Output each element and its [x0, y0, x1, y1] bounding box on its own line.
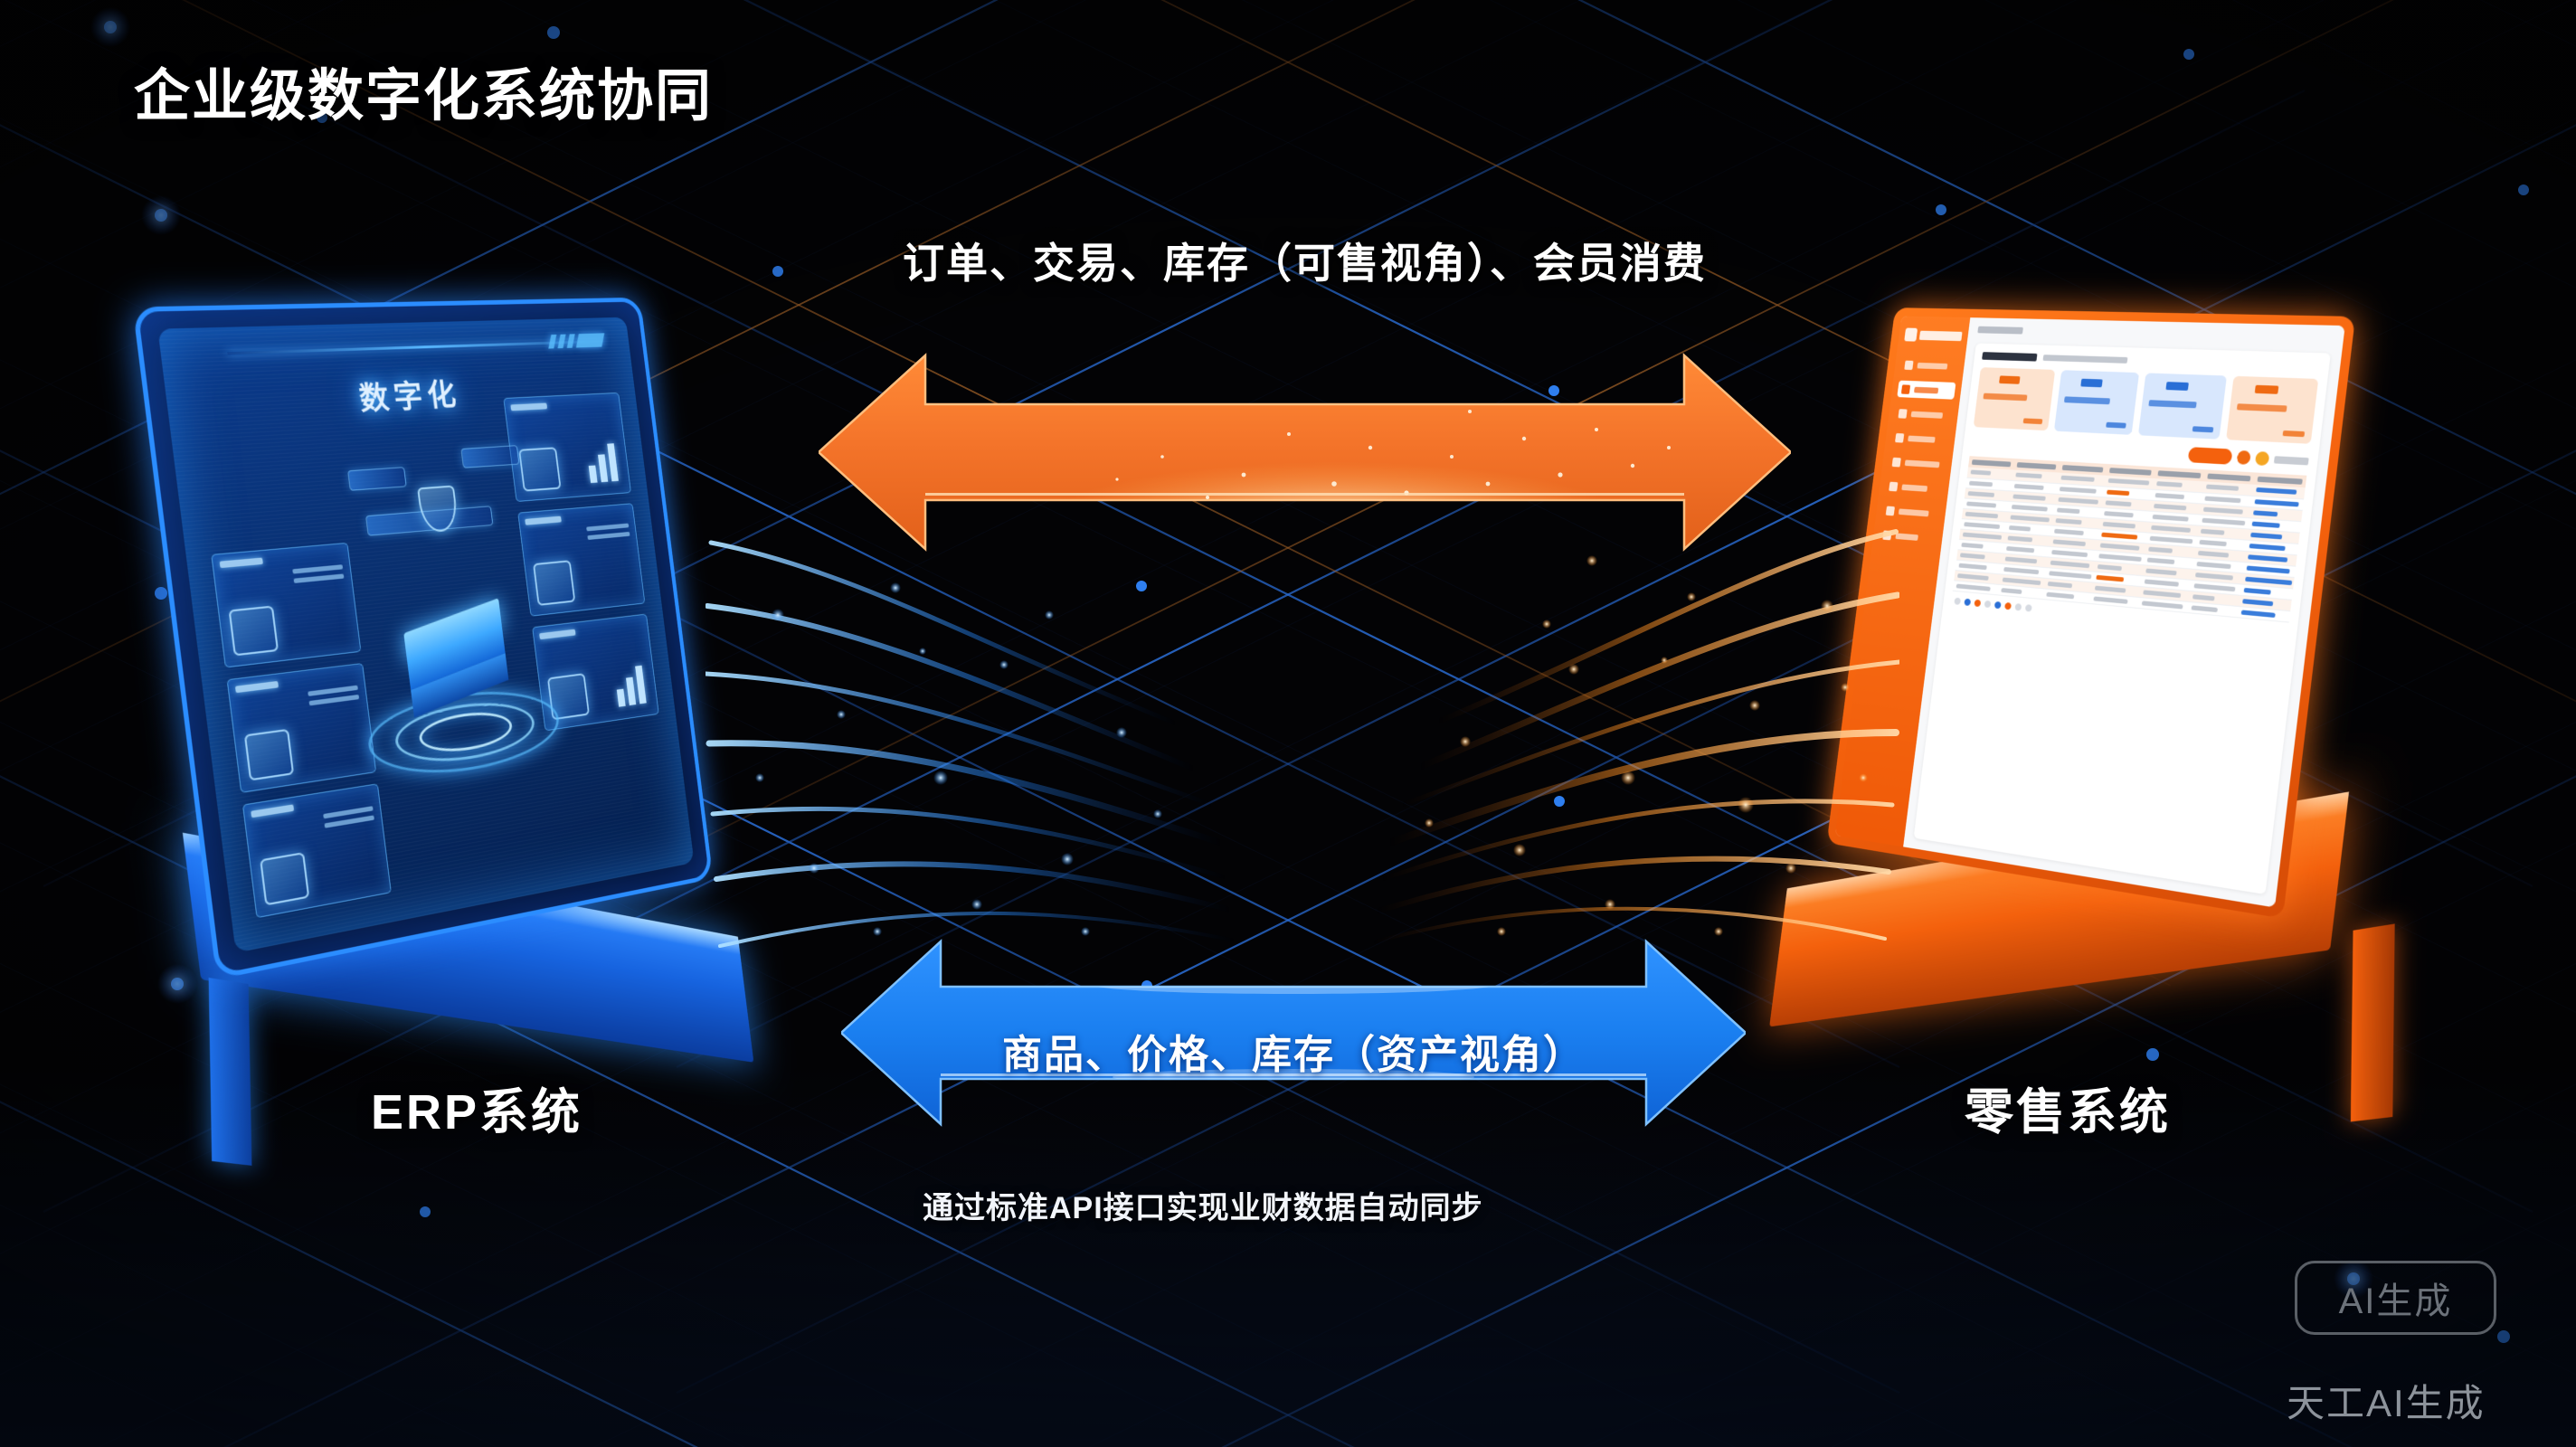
erp-card [503, 392, 631, 502]
table-cell [2139, 586, 2190, 601]
table-cell [2198, 514, 2249, 528]
laptop-icon [229, 606, 279, 657]
table-cell [2195, 536, 2247, 551]
table-cell [2250, 496, 2304, 510]
top-arrow-label: 订单、交易、库存（可售视角）、会员消费 [819, 231, 1791, 290]
erp-screen: 数字化 [157, 317, 694, 953]
retail-monitor-bezel [1827, 307, 2356, 919]
ai-generated-badge: AI生成 [2295, 1261, 2496, 1335]
table-cell [2190, 580, 2241, 595]
retail-monitor-neck [2351, 923, 2395, 1121]
table-cell [2246, 540, 2299, 555]
ai-watermark: 天工AI生成 [2287, 1373, 2486, 1428]
user-name-label [2274, 456, 2309, 465]
orbit-rings [364, 678, 564, 789]
primary-action-button[interactable] [2188, 447, 2233, 465]
retail-data-table [1953, 456, 2307, 622]
table-cell [2249, 506, 2303, 521]
stat-card-blue[interactable] [2138, 373, 2227, 439]
table-cell [2243, 562, 2297, 577]
bar-chart-icon [586, 441, 619, 483]
book-icon [518, 447, 561, 491]
erp-monitor-bezel: 数字化 [132, 298, 713, 979]
erp-card [517, 503, 645, 616]
table-cell [2142, 564, 2192, 580]
retail-screen [1835, 316, 2345, 907]
table-cell [2187, 601, 2239, 617]
table-cell [2202, 481, 2253, 496]
avatar[interactable] [2255, 451, 2270, 466]
stack-icon [614, 664, 647, 707]
table-cell [2192, 558, 2244, 573]
table-cell [2244, 551, 2297, 566]
table-cell [2138, 597, 2189, 612]
table-cell [2248, 517, 2301, 532]
table-cell [2193, 547, 2245, 563]
bottom-arrow-label: 商品、价格、库存（资产视角） [841, 1022, 1746, 1080]
table-cell [2191, 569, 2242, 584]
table-cell [2240, 584, 2294, 600]
table-cell [2188, 591, 2240, 606]
erp-card [227, 663, 377, 793]
retail-panel [1914, 344, 2331, 895]
erp-header-line [227, 340, 603, 355]
retail-content [1903, 317, 2345, 907]
stat-card-row [1974, 367, 2319, 444]
stat-card-orange[interactable] [2226, 376, 2318, 444]
sidebar-item[interactable] [1890, 429, 1949, 449]
table-cell [2148, 511, 2199, 525]
sidebar-item-active[interactable] [1897, 381, 1956, 400]
retail-system-label: 零售系统 [1965, 1072, 2171, 1143]
erp-monitor-neck [209, 978, 252, 1166]
breadcrumb [1977, 326, 2023, 335]
bottom-data-arrow: 商品、价格、库存（资产视角） [841, 936, 1746, 1130]
arrow-orange-icon [819, 348, 1791, 556]
top-data-arrow: 订单、交易、库存（可售视角）、会员消费 [819, 348, 1791, 556]
table-cell [2247, 528, 2300, 543]
erp-monitor: 数字化 [176, 298, 773, 1022]
sync-caption: 通过标准API接口实现业财数据自动同步 [923, 1183, 1483, 1227]
panel-header [1982, 352, 2320, 371]
table-cell [2241, 572, 2295, 588]
table-cell [2145, 532, 2196, 546]
table-cell [2143, 553, 2193, 568]
notification-icon[interactable] [2236, 450, 2250, 465]
sidebar-item[interactable] [1879, 525, 1937, 547]
retail-monitor [1791, 307, 2424, 1058]
erp-screen-title: 数字化 [277, 367, 535, 423]
shield-icon [417, 485, 459, 533]
table-cell [2089, 592, 2139, 608]
server-icon [533, 560, 575, 606]
sidebar-item[interactable] [1900, 356, 1959, 375]
table-cell [2145, 543, 2195, 557]
erp-left-card-column [211, 543, 392, 918]
sidebar-item[interactable] [1894, 404, 1953, 424]
sidebar-item[interactable] [1881, 502, 1940, 523]
card-icon [244, 729, 294, 781]
erp-system-label: ERP系统 [371, 1072, 582, 1143]
erp-card [211, 543, 361, 668]
table-cell [2140, 575, 2191, 591]
table-cell [2196, 525, 2248, 539]
erp-status-dashes [549, 333, 604, 348]
table-cell [2150, 500, 2201, 515]
stat-card-blue[interactable] [2054, 370, 2139, 435]
table-cell [2238, 606, 2291, 622]
retail-logo [1904, 326, 1963, 345]
sidebar-item[interactable] [1885, 478, 1944, 498]
table-cell [2199, 503, 2250, 517]
document-icon [260, 852, 309, 905]
page-title: 企业级数字化系统协同 [134, 50, 713, 131]
table-cell [2252, 485, 2306, 499]
table-cell [2147, 522, 2198, 536]
stat-card-orange[interactable] [1974, 367, 2056, 430]
table-cell [2201, 492, 2252, 506]
erp-card [242, 783, 392, 918]
table-cell [2151, 489, 2202, 504]
table-cell [2239, 595, 2292, 610]
database-server-icon [402, 610, 513, 722]
sidebar-item[interactable] [1888, 453, 1946, 473]
table-cell [2153, 478, 2203, 492]
